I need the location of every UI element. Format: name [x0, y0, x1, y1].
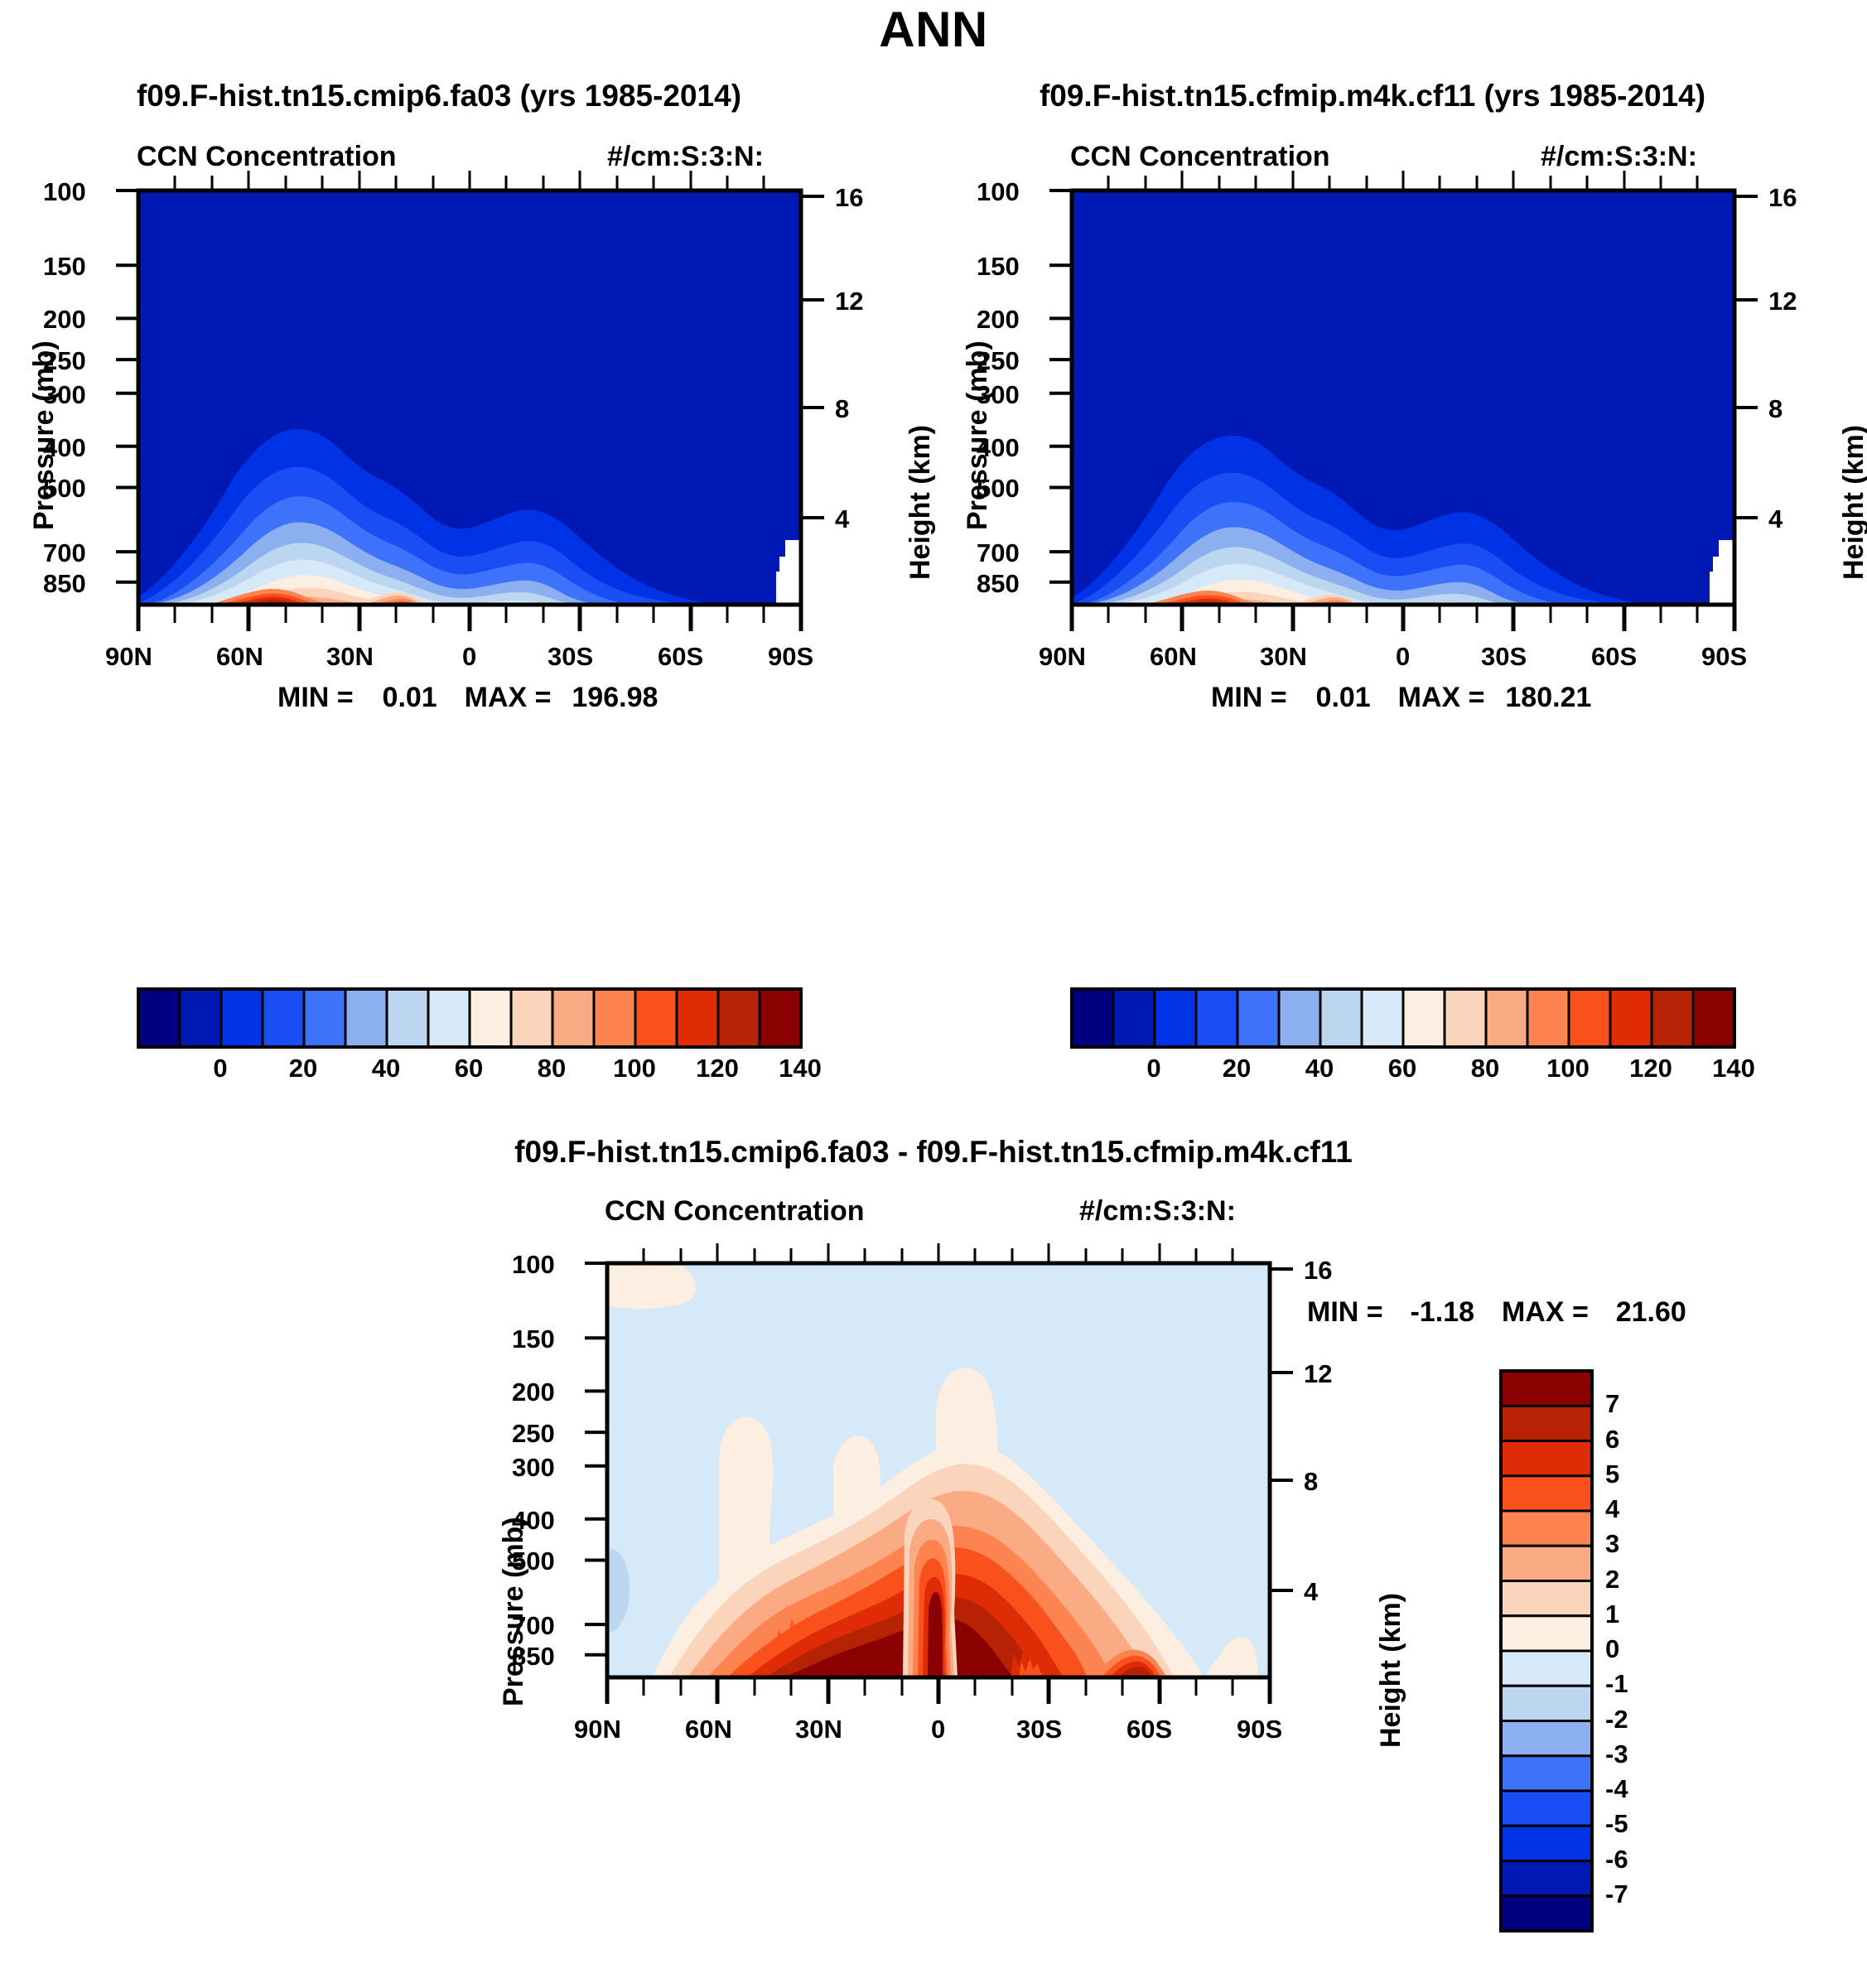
colorbar-main-left-cell-9	[511, 989, 552, 1047]
colorbar-main-right-swatches	[1072, 989, 1734, 1047]
colorbar-diff-cell-5	[1501, 1546, 1592, 1580]
panel-top-left-xtick-60S: 60S	[658, 642, 703, 672]
colorbar-main-right-label-5: 100	[1546, 1054, 1590, 1083]
panel-top-left-ytick-400: 400	[43, 433, 86, 463]
panel-top-right-xtick-90S: 90S	[1701, 642, 1747, 672]
colorbar-diff-cell-14	[1501, 1861, 1592, 1896]
panel-bottom-diff-xticks	[607, 1677, 1270, 1704]
colorbar-main-left-label-5: 100	[613, 1054, 656, 1083]
colorbar-main-right-cell-13	[1610, 989, 1652, 1047]
panel-top-right-y2label: Height (km)	[1838, 425, 1867, 580]
colorbar-main-left-swatches	[138, 989, 801, 1047]
colorbar-main-left-label-1: 20	[289, 1054, 317, 1083]
colorbar-diff-label-1: 6	[1605, 1425, 1619, 1455]
colorbar-diff-label-0: 7	[1605, 1389, 1619, 1419]
panel-top-right-ytick-250: 250	[977, 346, 1020, 376]
panel-top-left-htick-16: 16	[835, 183, 863, 213]
panel-top-right-ytick-150: 150	[977, 252, 1020, 282]
panel-bottom-diff-yticks	[585, 1263, 607, 1655]
panel-top-left-xtick-0: 0	[462, 642, 476, 672]
panel-bottom-diff-ytick-100: 100	[512, 1250, 555, 1280]
colorbar-main-right-cell-15	[1693, 989, 1734, 1047]
colorbar-main-left-cell-10	[552, 989, 594, 1047]
panel-top-left-ytick-850: 850	[43, 569, 86, 599]
colorbar-main-left-label-2: 40	[372, 1054, 400, 1083]
colorbar-diff-label-10: -3	[1605, 1739, 1628, 1769]
panel-top-left-xtick-30S: 30S	[548, 642, 593, 672]
panel-top-left-ytick-150: 150	[43, 252, 86, 282]
colorbar-main-right-label-6: 120	[1629, 1054, 1672, 1083]
colorbar-diff-cell-12	[1501, 1791, 1592, 1826]
colorbar-diff-cell-9	[1501, 1686, 1592, 1720]
colorbar-diff-label-13: -6	[1605, 1845, 1628, 1875]
colorbar-main-right-cell-1	[1113, 989, 1155, 1047]
minmax-min-label: MIN =	[1307, 1296, 1383, 1328]
minmax-max-label: MAX =	[1398, 682, 1485, 713]
colorbar-diff-cell-4	[1501, 1511, 1592, 1546]
colorbar-main-right-cell-6	[1320, 989, 1362, 1047]
colorbar-diff-label-6: 1	[1605, 1600, 1619, 1629]
panel-bottom-diff-xtick-60N: 60N	[685, 1715, 732, 1744]
colorbar-main-right-cell-5	[1279, 989, 1320, 1047]
panel-top-right-y2ticks	[1734, 196, 1758, 518]
panel-top-right-xticks	[1072, 605, 1734, 631]
colorbar-diff: 76543210-1-2-3-4-5-6-7	[1501, 1371, 1596, 1934]
panel-top-right-ytick-500: 500	[977, 474, 1020, 504]
panel-bottom-diff-title: f09.F-hist.tn15.cmip6.fa03 - f09.F-hist.…	[0, 1135, 1867, 1170]
panel-bottom-diff-y2ticks	[1270, 1269, 1293, 1590]
panel-top-right-ytick-400: 400	[977, 433, 1020, 463]
panel-top-left-plot	[0, 149, 878, 977]
panel-bottom-diff-xtick-60S: 60S	[1126, 1715, 1172, 1744]
panel-top-left-y2ticks	[801, 196, 824, 518]
colorbar-main-left-label-0: 0	[213, 1054, 227, 1083]
colorbar-main-left-cell-12	[635, 989, 677, 1047]
colorbar-main-right-label-7: 140	[1712, 1054, 1755, 1083]
panel-top-right-ytick-100: 100	[977, 177, 1020, 207]
colorbar-diff-label-4: 3	[1605, 1529, 1619, 1559]
panel-bottom-diff-ytick-200: 200	[512, 1378, 555, 1407]
panel-bottom-diff-xtick-30N: 30N	[795, 1715, 842, 1744]
colorbar-main-left-cell-6	[387, 989, 428, 1047]
panel-top-left-xtick-90N: 90N	[105, 642, 152, 672]
colorbar-diff-cell-7	[1501, 1616, 1592, 1651]
colorbar-main-right-cell-11	[1527, 989, 1569, 1047]
panel-bottom-diff-minmax: MIN = -1.18 MAX = 21.60	[1307, 1296, 1686, 1329]
panel-top-left-ytick-100: 100	[43, 177, 86, 207]
panel-top-left-y2label: Height (km)	[905, 425, 937, 580]
panel-bottom-diff-xtick-30S: 30S	[1016, 1715, 1062, 1744]
panel-top-left-minmax: MIN = 0.01 MAX = 196.98	[277, 682, 658, 714]
panel-top-right-htick-8: 8	[1768, 394, 1783, 424]
colorbar-main-left-label-3: 60	[455, 1054, 483, 1083]
panel-bottom-diff-xtick-90N: 90N	[574, 1715, 621, 1744]
panel-bottom-diff-ytick-250: 250	[512, 1419, 555, 1449]
colorbar-diff-cell-13	[1501, 1826, 1592, 1860]
colorbar-main-left-cell-8	[470, 989, 511, 1047]
panel-top-right-xtick-60S: 60S	[1591, 642, 1637, 672]
panel-top-left-xticks	[138, 605, 801, 631]
colorbar-main-right-cell-7	[1362, 989, 1403, 1047]
colorbar-diff-cell-2	[1501, 1441, 1592, 1476]
colorbar-main-right-cell-12	[1569, 989, 1610, 1047]
colorbar-main-right-cell-3	[1196, 989, 1237, 1047]
panel-bottom-diff-htick-4: 4	[1304, 1577, 1318, 1607]
panel-top-right-yticks	[1049, 191, 1072, 582]
panel-top-left-htick-12: 12	[835, 287, 863, 316]
panel-top-right-ytick-300: 300	[977, 380, 1020, 410]
colorbar-main-left-label-7: 140	[779, 1054, 822, 1083]
page-title: ANN	[0, 5, 1867, 55]
colorbar-main-left-cell-4	[304, 989, 345, 1047]
colorbar-main-left-label-6: 120	[696, 1054, 739, 1083]
colorbar-main-left-cell-7	[428, 989, 470, 1047]
colorbar-main-right-label-0: 0	[1146, 1054, 1160, 1083]
colorbar-diff-label-3: 4	[1605, 1494, 1619, 1524]
panel-top-right-xtick-0: 0	[1396, 642, 1410, 672]
panel-bottom-diff-xtick-0: 0	[931, 1715, 945, 1744]
colorbar-diff-cell-15	[1501, 1896, 1592, 1931]
panel-bottom-diff-ytick-850: 850	[512, 1642, 555, 1672]
panel-top-left-htick-8: 8	[835, 394, 849, 424]
panel-top-right-plot	[933, 149, 1812, 977]
panel-bottom-diff-plot	[439, 1201, 1433, 1947]
panel-top-left-ytick-250: 250	[43, 346, 86, 376]
colorbar-main-left-cell-0	[138, 989, 180, 1047]
colorbar-main-left-label-4: 80	[538, 1054, 566, 1083]
colorbar-diff-cell-6	[1501, 1581, 1592, 1616]
panel-bottom-diff-htick-16: 16	[1304, 1256, 1332, 1286]
panel-bottom-diff-ytick-150: 150	[512, 1325, 555, 1354]
colorbar-main-right-cell-9	[1445, 989, 1486, 1047]
panel-top-right-ytick-200: 200	[977, 305, 1020, 335]
colorbar-main-right-label-3: 60	[1388, 1054, 1416, 1083]
panel-top-left-xtick-30N: 30N	[326, 642, 374, 672]
minmax-min-label: MIN =	[1211, 682, 1287, 713]
colorbar-main-left-cell-1	[180, 989, 221, 1047]
colorbar-diff-label-5: 2	[1605, 1565, 1619, 1595]
panel-bottom-diff-ytick-500: 500	[512, 1546, 555, 1576]
minmax-min-value: 0.01	[1316, 682, 1371, 713]
colorbar-diff-label-9: -2	[1605, 1705, 1628, 1735]
colorbar-main-right: 020406080100120140	[1072, 989, 1734, 1047]
colorbar-main-right-cell-2	[1155, 989, 1196, 1047]
panel-top-left-htick-4: 4	[835, 504, 849, 534]
panel-top-left-ytick-700: 700	[43, 538, 86, 568]
colorbar-main-right-label-1: 20	[1223, 1054, 1251, 1083]
colorbar-main-left-cell-3	[263, 989, 304, 1047]
colorbar-main-left-cell-5	[345, 989, 387, 1047]
panel-top-right-htick-16: 16	[1768, 183, 1797, 213]
panel-bottom-diff-htick-12: 12	[1304, 1359, 1332, 1389]
colorbar-diff-label-12: -5	[1605, 1809, 1628, 1839]
panel-top-right-minmax: MIN = 0.01 MAX = 180.21	[1211, 682, 1591, 714]
panel-top-left-xtick-90S: 90S	[768, 642, 813, 672]
colorbar-main-left-cell-13	[677, 989, 718, 1047]
minmax-min-value: -1.18	[1411, 1296, 1475, 1328]
panel-top-left-ytick-200: 200	[43, 305, 86, 335]
panel-top-left-xtick-60N: 60N	[216, 642, 263, 672]
colorbar-diff-label-14: -7	[1605, 1879, 1628, 1909]
minmax-max-label: MAX =	[1502, 1296, 1589, 1328]
colorbar-diff-label-11: -4	[1605, 1774, 1628, 1804]
panel-top-left-title: f09.F-hist.tn15.cmip6.fa03 (yrs 1985-201…	[0, 79, 878, 113]
colorbar-diff-cell-10	[1501, 1721, 1592, 1756]
colorbar-diff-label-2: 5	[1605, 1460, 1619, 1489]
panel-bottom-diff-xtick-90S: 90S	[1237, 1715, 1282, 1744]
colorbar-main-left-cell-2	[221, 989, 263, 1047]
panel-top-right-xtick-30S: 30S	[1481, 642, 1527, 672]
minmax-max-value: 21.60	[1616, 1296, 1686, 1328]
panel-bottom-diff-ytick-700: 700	[512, 1611, 555, 1641]
panel-top-right-htick-12: 12	[1768, 287, 1797, 316]
panel-bottom-diff-ytick-300: 300	[512, 1453, 555, 1483]
minmax-max-value: 180.21	[1505, 682, 1591, 713]
panel-top-right-xtick-60N: 60N	[1150, 642, 1197, 672]
colorbar-diff-label-7: 0	[1605, 1634, 1619, 1664]
colorbar-main-right-label-2: 40	[1305, 1054, 1334, 1083]
colorbar-main-right-cell-8	[1403, 989, 1445, 1047]
panel-bottom-diff-htick-8: 8	[1304, 1467, 1318, 1497]
panel-top-right-ytick-700: 700	[977, 538, 1020, 568]
minmax-max-value: 196.98	[572, 682, 658, 713]
panel-top-right-title: f09.F-hist.tn15.cfmip.m4k.cf11 (yrs 1985…	[933, 79, 1812, 113]
panel-bottom-diff-ytick-400: 400	[512, 1506, 555, 1536]
panel-top-right-xtick-90N: 90N	[1039, 642, 1086, 672]
minmax-max-label: MAX =	[465, 682, 552, 713]
panel-top-right-htick-4: 4	[1768, 504, 1783, 534]
minmax-min-value: 0.01	[383, 682, 437, 713]
colorbar-diff-cell-1	[1501, 1406, 1592, 1440]
colorbar-main-right-label-4: 80	[1471, 1054, 1499, 1083]
minmax-min-label: MIN =	[277, 682, 354, 713]
colorbar-main-left: 020406080100120140	[138, 989, 801, 1047]
colorbar-main-right-cell-4	[1237, 989, 1279, 1047]
panel-top-left-ytick-500: 500	[43, 474, 86, 504]
colorbar-diff-cell-11	[1501, 1756, 1592, 1791]
colorbar-diff-label-8: -1	[1605, 1669, 1628, 1699]
panel-top-left-ytick-300: 300	[43, 380, 86, 410]
panel-top-left-yticks	[116, 191, 138, 582]
colorbar-diff-cell-8	[1501, 1651, 1592, 1686]
panel-top-right-xtick-30N: 30N	[1260, 642, 1307, 672]
colorbar-diff-cell-0	[1501, 1371, 1592, 1406]
colorbar-diff-swatches	[1501, 1371, 1596, 1934]
colorbar-main-left-cell-15	[760, 989, 801, 1047]
colorbar-diff-cell-3	[1501, 1476, 1592, 1511]
colorbar-main-right-cell-14	[1652, 989, 1693, 1047]
colorbar-main-left-cell-14	[718, 989, 760, 1047]
colorbar-main-right-cell-0	[1072, 989, 1113, 1047]
colorbar-main-right-cell-10	[1486, 989, 1527, 1047]
colorbar-main-left-cell-11	[594, 989, 635, 1047]
panel-top-right-ytick-850: 850	[977, 569, 1020, 599]
